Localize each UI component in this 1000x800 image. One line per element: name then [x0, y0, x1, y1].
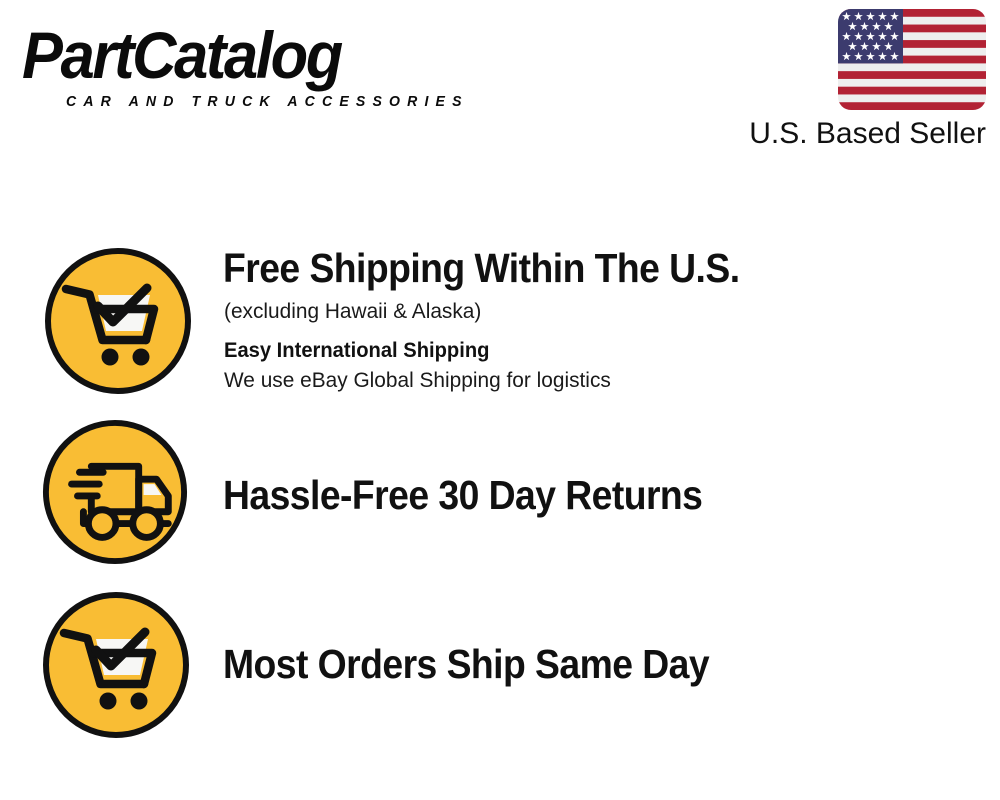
benefit-row: Hassle-Free 30 Day Returns [0, 417, 1000, 572]
benefit-title: Hassle-Free 30 Day Returns [223, 472, 702, 518]
benefit-title: Most Orders Ship Same Day [223, 641, 709, 687]
benefit-row: Free Shipping Within The U.S. (excluding… [0, 245, 1000, 405]
benefit-subtitle: (excluding Hawaii & Alaska) [224, 297, 481, 325]
benefit-note: We use eBay Global Shipping for logistic… [224, 365, 611, 395]
shopping-cart-check-icon [42, 245, 194, 397]
benefit-note-strong: Easy International Shipping [224, 337, 489, 365]
benefit-row: Most Orders Ship Same Day [0, 589, 1000, 744]
delivery-truck-icon [40, 417, 190, 567]
benefits-list: Free Shipping Within The U.S. (excluding… [0, 0, 1000, 800]
shopping-cart-check-icon [40, 589, 192, 741]
benefit-title: Free Shipping Within The U.S. [223, 245, 740, 291]
